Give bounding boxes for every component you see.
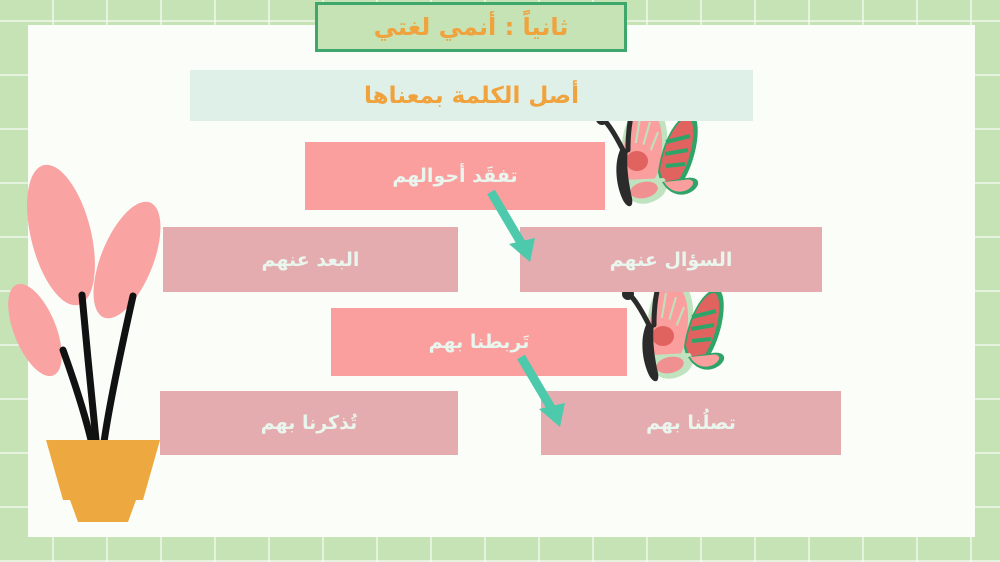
word-box-label: تفقَد أحوالهم [392, 165, 517, 187]
title-banner: ثانياً : أنمي لغتي [315, 2, 627, 52]
word-box-tudhakkir[interactable]: تُذكرنا بهم [160, 391, 458, 455]
word-box-label: تَربطنا بهم [429, 331, 530, 353]
slide-canvas: تفقَد أحوالهم البعد عنهم السؤال عنهم تَر… [0, 0, 1000, 562]
word-box-buud[interactable]: البعد عنهم [163, 227, 458, 292]
subtitle-text: أصل الكلمة بمعناها [364, 83, 579, 109]
word-box-label: السؤال عنهم [610, 249, 733, 271]
page-title: ثانياً : أنمي لغتي [374, 13, 569, 41]
word-box-label: تُذكرنا بهم [261, 412, 357, 434]
word-box-label: البعد عنهم [262, 249, 360, 271]
subtitle-banner: أصل الكلمة بمعناها [190, 70, 753, 121]
word-box-label: تصلُنا بهم [646, 412, 736, 434]
word-box-sual[interactable]: السؤال عنهم [520, 227, 822, 292]
word-box-rabt[interactable]: تَربطنا بهم [331, 308, 627, 376]
word-box-tafaqqud[interactable]: تفقَد أحوالهم [305, 142, 605, 210]
word-box-tasil[interactable]: تصلُنا بهم [541, 391, 841, 455]
